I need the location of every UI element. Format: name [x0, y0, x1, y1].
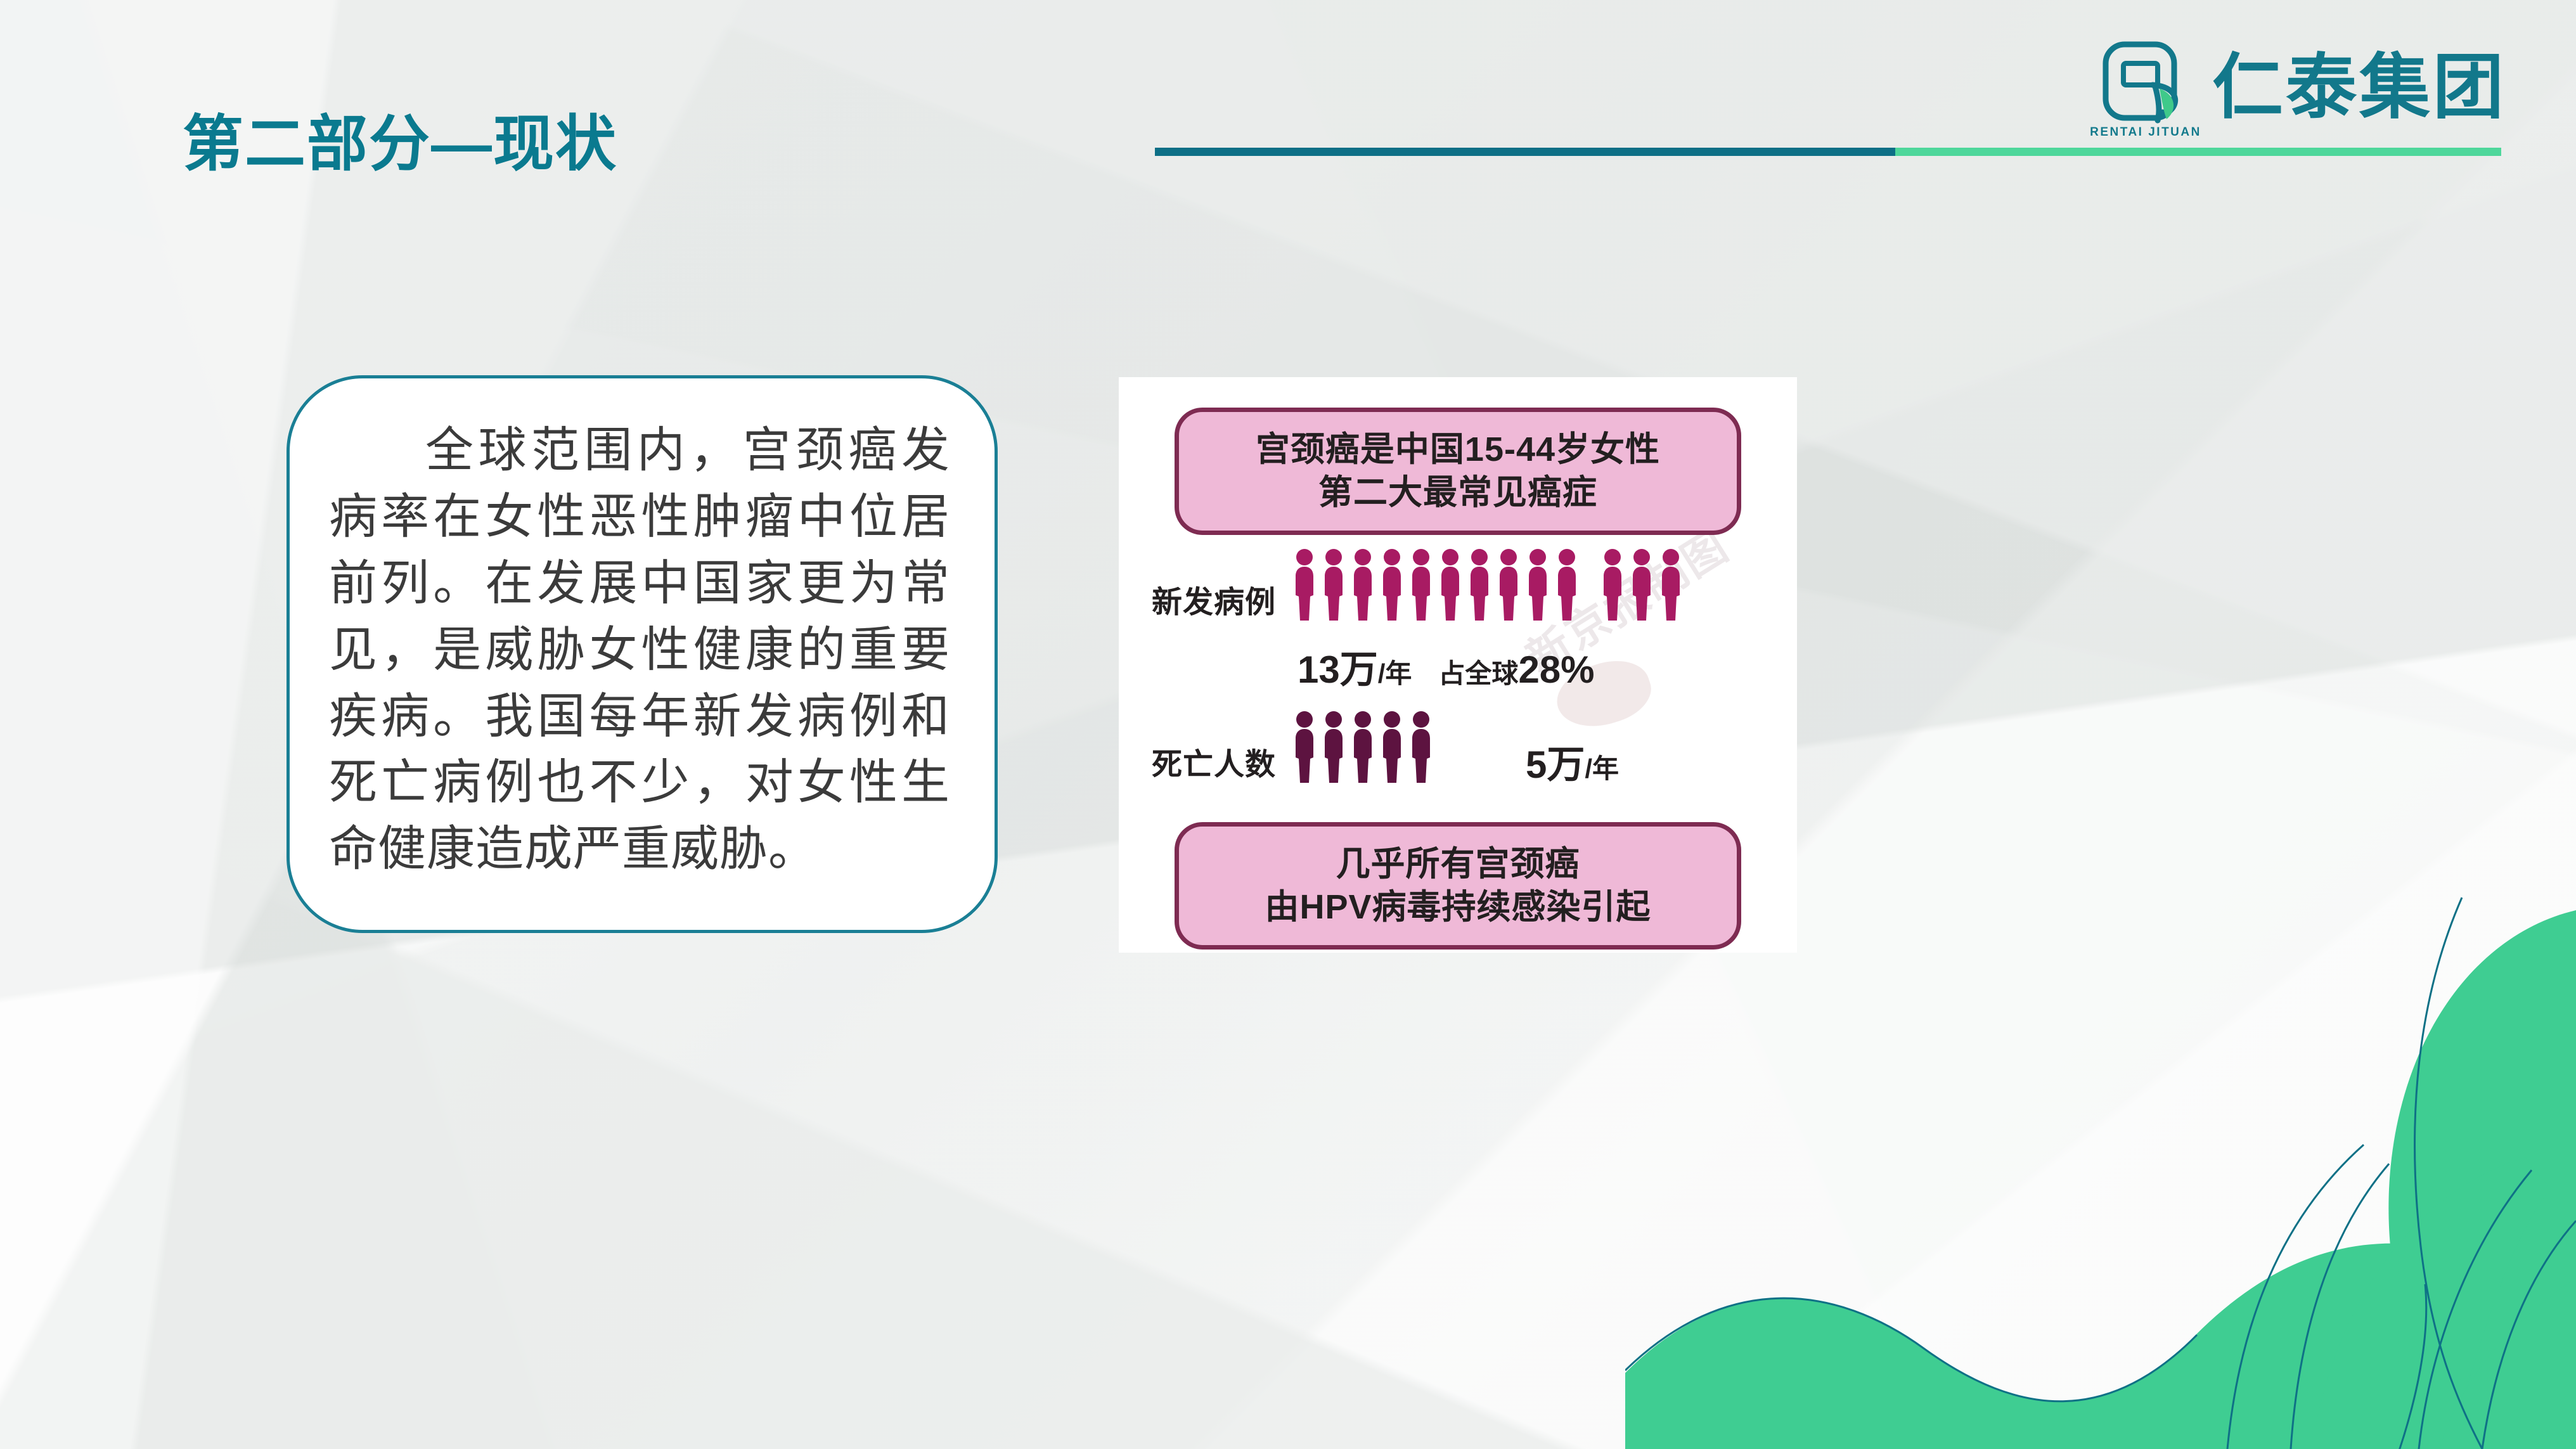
person-icon [1290, 709, 1319, 784]
decorative-leaves [1625, 891, 2576, 1449]
person-icon [1407, 709, 1436, 784]
person-icon [1465, 547, 1494, 622]
infographic-card: 新京报制图 宫颈癌是中国15-44岁女性 第二大最常见癌症 新发病例 [1119, 377, 1797, 953]
mortality-number: 5万 [1526, 744, 1585, 786]
stat-row-mortality: 死亡人数 [1152, 709, 1436, 784]
stat-value-mortality: 5万/年 [1526, 746, 1619, 784]
person-icon [1319, 709, 1348, 784]
top-banner-line-1: 宫颈癌是中国15-44岁女性 [1185, 428, 1730, 472]
pictogram-group-c [1290, 709, 1436, 784]
stat-label-incidence: 新发病例 [1152, 588, 1276, 622]
person-icon [1436, 547, 1465, 622]
person-icon [1377, 709, 1407, 784]
pictogram-mortality [1290, 709, 1436, 784]
pictogram-group-a [1290, 547, 1581, 622]
person-icon [1552, 547, 1581, 622]
incidence-share-label: 占全球 [1438, 659, 1518, 688]
header-divider [1155, 148, 2501, 156]
stat-value-incidence: 13万/年占全球28% [1298, 651, 1595, 689]
bottom-banner-line-1: 几乎所有宫颈癌 [1185, 843, 1730, 886]
mortality-unit: /年 [1585, 754, 1619, 783]
infographic-bottom-banner: 几乎所有宫颈癌 由HPV病毒持续感染引起 [1175, 822, 1741, 950]
logo-mark-icon: RENTAI JITUAN [2101, 39, 2191, 136]
person-icon [1627, 547, 1656, 622]
person-icon [1348, 709, 1377, 784]
slide-canvas: 第二部分—现状 RENTAI JITUAN 仁泰集团 全球范围内，宫颈癌发病率在… [0, 0, 2576, 1449]
incidence-unit: /年 [1378, 659, 1412, 688]
page-title: 第二部分—现状 [183, 114, 617, 175]
logo-wordmark: 仁泰集团 [2212, 52, 2506, 123]
person-icon [1494, 547, 1523, 622]
pictogram-incidence [1290, 547, 1685, 622]
incidence-share-value: 28% [1518, 648, 1594, 691]
pictogram-group-b [1598, 547, 1685, 622]
person-icon [1290, 547, 1319, 622]
incidence-number: 13万 [1298, 648, 1378, 691]
infographic-top-banner: 宫颈癌是中国15-44岁女性 第二大最常见癌症 [1175, 408, 1741, 535]
person-icon [1407, 547, 1436, 622]
company-logo: RENTAI JITUAN 仁泰集团 [2101, 39, 2506, 136]
top-banner-line-2: 第二大最常见癌症 [1185, 472, 1730, 515]
person-icon [1377, 547, 1407, 622]
stat-row-incidence: 新发病例 [1152, 547, 1685, 622]
body-text-card: 全球范围内，宫颈癌发病率在女性恶性肿瘤中位居前列。在发展中国家更为常见，是威胁女… [287, 375, 998, 933]
bottom-banner-line-2: 由HPV病毒持续感染引起 [1185, 886, 1730, 929]
person-icon [1598, 547, 1627, 622]
divider-segment-teal [1155, 148, 1895, 156]
logo-pinyin: RENTAI JITUAN [2090, 126, 2201, 139]
person-icon [1348, 547, 1377, 622]
body-paragraph: 全球范围内，宫颈癌发病率在女性恶性肿瘤中位居前列。在发展中国家更为常见，是威胁女… [329, 418, 950, 883]
stat-label-mortality: 死亡人数 [1152, 750, 1276, 784]
person-icon [1656, 547, 1685, 622]
divider-segment-green [1895, 148, 2501, 156]
person-icon [1319, 547, 1348, 622]
person-icon [1523, 547, 1552, 622]
